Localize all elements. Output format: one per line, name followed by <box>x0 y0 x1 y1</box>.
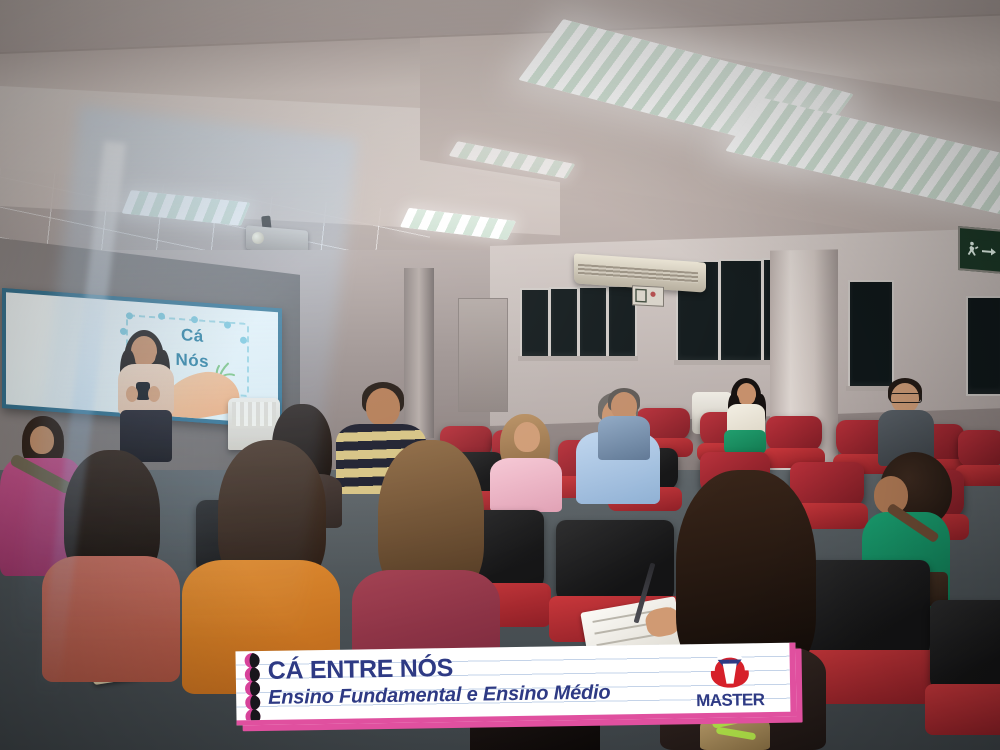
window-pane <box>966 296 1000 396</box>
banner-dot <box>245 681 260 696</box>
auditorium-chair <box>930 600 1000 750</box>
banner-card: CÁ ENTRE NÓS Ensino Fundamental e Ensino… <box>235 643 796 726</box>
event-banner: CÁ ENTRE NÓS Ensino Fundamental e Ensino… <box>235 643 796 726</box>
presenter <box>108 330 182 460</box>
master-logo-mark-icon <box>706 650 753 691</box>
banner-dot <box>245 709 260 724</box>
window-sill <box>518 356 638 361</box>
auditorium-chair <box>958 430 1000 492</box>
window-pane <box>520 288 550 360</box>
exit-running-man-icon <box>964 239 998 262</box>
banner-dot-column <box>244 653 263 725</box>
door[interactable] <box>458 298 508 412</box>
emergency-sign-icon <box>635 288 661 303</box>
emergency-sign <box>632 285 664 307</box>
audience-member <box>596 388 652 458</box>
window-pane <box>549 287 579 360</box>
banner-dot <box>245 695 260 710</box>
banner-dot <box>245 667 260 682</box>
audience-member <box>722 378 770 452</box>
exit-sign <box>958 226 1000 274</box>
photo-scene: Cá Nós <box>0 0 1000 750</box>
projector-lens <box>252 232 264 244</box>
window-pane <box>719 259 763 364</box>
audience-member <box>42 450 182 680</box>
banner-text-block: CÁ ENTRE NÓS Ensino Fundamental e Ensino… <box>268 651 673 711</box>
eyeglasses <box>890 393 922 403</box>
slide-decor-dot <box>191 316 198 324</box>
master-logo: MASTER <box>677 647 782 713</box>
window-pane <box>848 280 894 390</box>
banner-dot <box>244 653 259 668</box>
window-pane <box>578 286 608 360</box>
master-logo-wordmark: MASTER <box>696 691 764 710</box>
